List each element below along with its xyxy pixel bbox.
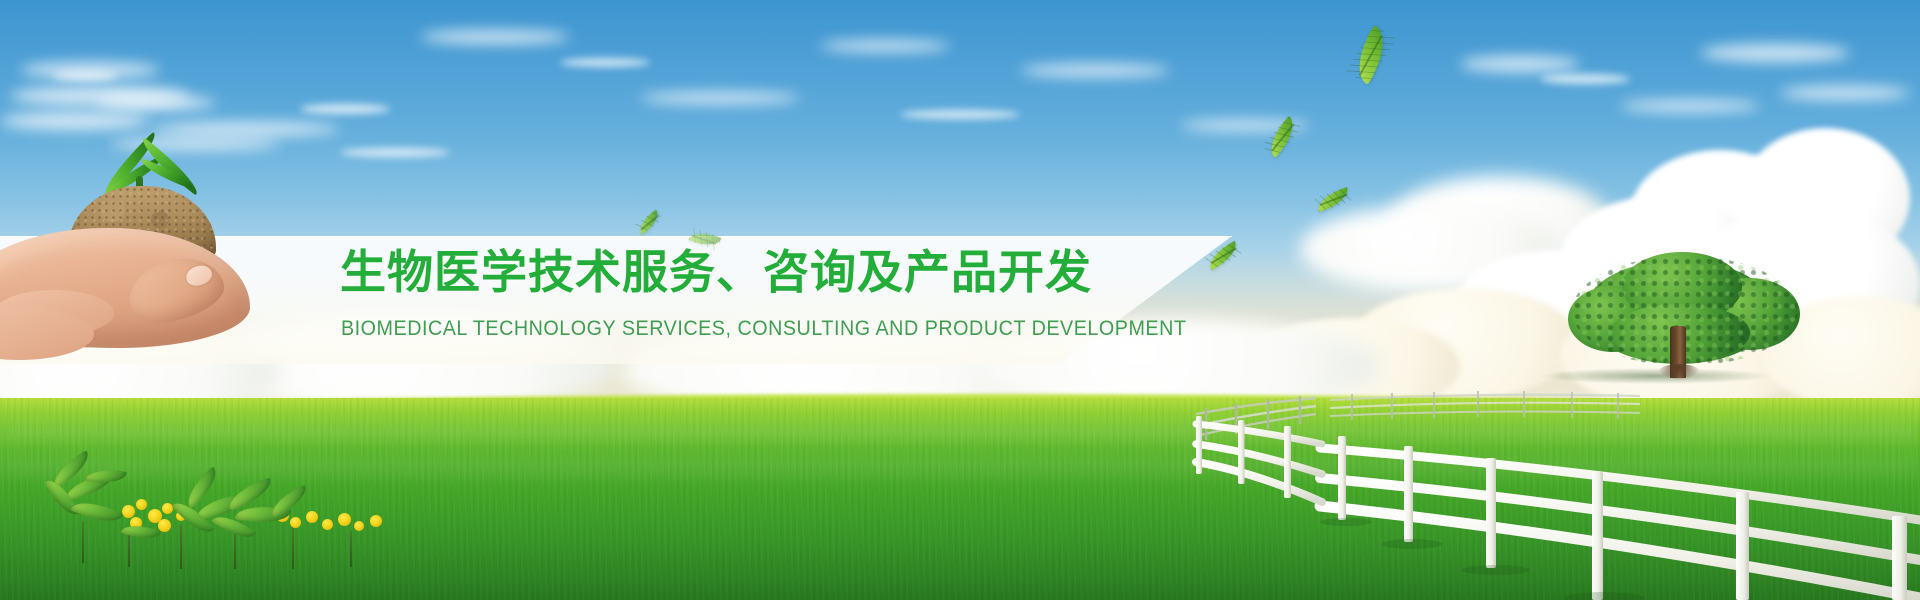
plant-stem [180,525,182,569]
plant-stem [234,529,236,569]
cloud-wisp [340,148,450,157]
page-title: 生物医学技术服务、咨询及产品开发 [340,249,1092,295]
cloud-wisp [820,40,950,52]
yellow-flower [322,519,333,530]
hand-with-sprout [0,140,300,370]
cloud-wisp [1620,100,1760,112]
plant-stem [292,527,294,569]
page-subtitle: BIOMEDICAL TECHNOLOGY SERVICES, CONSULTI… [341,318,1186,339]
cloud-wisp [1020,64,1170,77]
cloud-wisp [300,104,390,114]
cloud-wisp [150,122,340,136]
plant-leaf [71,494,124,531]
cloud-wisp [96,96,216,110]
cloud-wisp [1700,44,1850,62]
plant-leaf [224,477,275,510]
yellow-flower [370,515,382,527]
cloud-wisp [1540,74,1630,84]
cloud-wisp [1780,86,1910,100]
yellow-flower [290,517,301,528]
yellow-flower [122,505,135,518]
tree-trunk-base [1658,364,1700,380]
hero-banner: 生物医学技术服务、咨询及产品开发 BIOMEDICAL TECHNOLOGY S… [0,0,1920,600]
yellow-flower [306,511,318,523]
plant-stem [350,531,352,567]
foreground-plants [30,455,450,600]
cloud-wisp [1460,56,1580,72]
cloud-wisp [640,92,800,104]
cloud-wisp [0,112,150,130]
tree [1566,252,1804,378]
plant-stem [82,521,84,563]
yellow-flower [354,521,364,531]
yellow-flower [136,499,147,510]
cloud-wisp [900,110,1020,119]
yellow-flower [338,513,351,526]
cloud-wisp [52,72,118,80]
cloud-wisp [420,30,570,44]
cloud-wisp [560,58,650,67]
